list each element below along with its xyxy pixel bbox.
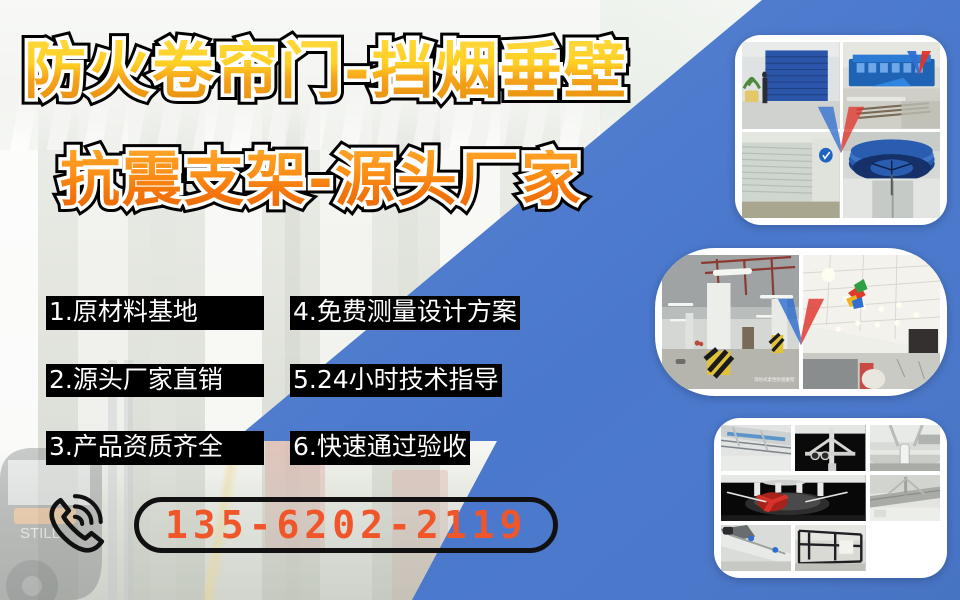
feature-item-4: 4.免费测量设计方案 xyxy=(290,296,520,330)
feature-item-6: 6.快速通过验收 xyxy=(290,431,470,465)
photo-blue-fire-shutter-door-hall xyxy=(742,42,840,129)
photo-red-fan-ceiling-mount xyxy=(721,475,866,521)
feature-item-2: 2.源头厂家直销 xyxy=(46,364,264,398)
headline-secondary-fill: 抗震支架-源头厂家 xyxy=(60,150,583,210)
contact-phone-block[interactable]: 135-6202-2119 xyxy=(44,492,558,558)
photo-underground-parking-garage: 消防式柔性防烟垂壁 xyxy=(662,255,799,389)
phone-number-pill[interactable]: 135-6202-2119 xyxy=(134,497,558,553)
photo-card-interiors[interactable]: 消防式柔性防烟垂壁 xyxy=(655,248,947,396)
photo-bracket-assembly-detail xyxy=(721,525,791,571)
photo-seismic-brace-node-black xyxy=(795,425,865,471)
feature-row: 2.源头厂家直销 5.24小时技术指导 xyxy=(46,364,566,398)
headline-primary-fill: 防火卷帘门-挡烟垂壁 xyxy=(24,40,628,102)
photo-caption: 消防式柔性防烟垂壁 xyxy=(754,376,795,383)
photo-card-seismic-brackets[interactable] xyxy=(714,418,947,578)
photo-blue-roll-forming-machine xyxy=(843,42,941,129)
photo-steel-frame-room xyxy=(795,525,865,571)
photo-white-ceiling-lights-interior xyxy=(803,255,940,389)
feature-row: 3.产品资质齐全 6.快速通过验收 xyxy=(46,431,566,465)
phone-call-icon xyxy=(44,492,110,558)
photo-card-fire-shutter[interactable] xyxy=(735,35,947,225)
photo-silver-rolling-shutter-corridor xyxy=(742,132,840,219)
photo-pipe-clamp-hanger xyxy=(870,425,940,471)
photo-duct-seismic-support xyxy=(870,475,940,521)
headline-secondary: 抗震支架-源头厂家 抗震支架-源头厂家 抗震支架-源头厂家 抗震支架-源头厂家 xyxy=(60,150,583,210)
promo-banner: STILL 防火卷帘门-挡烟垂壁 防火卷帘门-挡烟垂壁 防火卷帘门-挡烟垂壁 防… xyxy=(0,0,960,600)
photo-blue-steel-coil-decoiler xyxy=(843,132,941,219)
feature-row: 1.原材料基地 4.免费测量设计方案 xyxy=(46,296,566,330)
feature-list: 1.原材料基地 4.免费测量设计方案 2.源头厂家直销 5.24小时技术指导 3… xyxy=(46,296,566,499)
photo-ceiling-pipe-bracket-1 xyxy=(721,425,791,471)
headline-primary: 防火卷帘门-挡烟垂壁 防火卷帘门-挡烟垂壁 防火卷帘门-挡烟垂壁 防火卷帘门-挡… xyxy=(24,40,628,102)
feature-item-1: 1.原材料基地 xyxy=(46,296,264,330)
feature-item-3: 3.产品资质齐全 xyxy=(46,431,264,465)
feature-item-5: 5.24小时技术指导 xyxy=(290,364,502,398)
phone-number-text: 135-6202-2119 xyxy=(165,503,527,547)
